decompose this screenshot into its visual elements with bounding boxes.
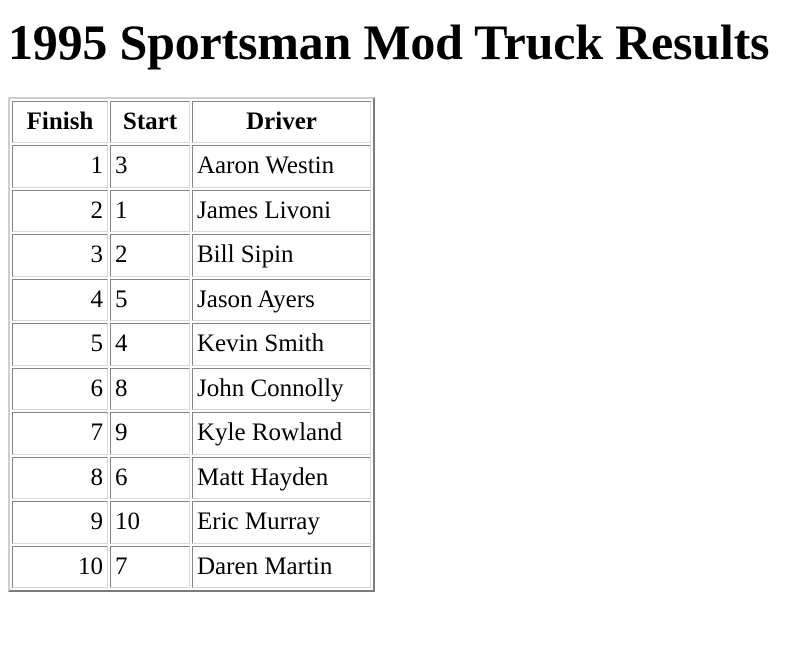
cell-start: 3	[110, 145, 190, 188]
cell-start: 5	[110, 279, 190, 322]
column-header-start: Start	[110, 101, 190, 144]
cell-driver: Jason Ayers	[192, 279, 371, 322]
table-header: Finish Start Driver	[12, 101, 371, 144]
cell-finish: 9	[12, 501, 108, 544]
table-row: 8 6 Matt Hayden	[12, 457, 371, 500]
cell-start: 10	[110, 501, 190, 544]
cell-driver: Matt Hayden	[192, 457, 371, 500]
cell-driver: John Connolly	[192, 368, 371, 411]
cell-driver: Bill Sipin	[192, 234, 371, 277]
cell-finish: 6	[12, 368, 108, 411]
cell-driver: Aaron Westin	[192, 145, 371, 188]
cell-start: 4	[110, 323, 190, 366]
cell-driver: Kyle Rowland	[192, 412, 371, 455]
column-header-driver: Driver	[192, 101, 371, 144]
table-body: 1 3 Aaron Westin 2 1 James Livoni 3 2 Bi…	[12, 145, 371, 588]
cell-finish: 3	[12, 234, 108, 277]
table-row: 2 1 James Livoni	[12, 190, 371, 233]
cell-start: 2	[110, 234, 190, 277]
table-row: 7 9 Kyle Rowland	[12, 412, 371, 455]
cell-start: 6	[110, 457, 190, 500]
table-row: 4 5 Jason Ayers	[12, 279, 371, 322]
cell-start: 8	[110, 368, 190, 411]
table-row: 9 10 Eric Murray	[12, 501, 371, 544]
cell-driver: James Livoni	[192, 190, 371, 233]
table-row: 6 8 John Connolly	[12, 368, 371, 411]
cell-start: 1	[110, 190, 190, 233]
table-header-row: Finish Start Driver	[12, 101, 371, 144]
cell-finish: 2	[12, 190, 108, 233]
column-header-finish: Finish	[12, 101, 108, 144]
table-row: 5 4 Kevin Smith	[12, 323, 371, 366]
cell-finish: 5	[12, 323, 108, 366]
page-root: 1995 Sportsman Mod Truck Results Finish …	[0, 16, 802, 652]
table-row: 10 7 Daren Martin	[12, 546, 371, 589]
cell-start: 7	[110, 546, 190, 589]
cell-driver: Daren Martin	[192, 546, 371, 589]
page-title: 1995 Sportsman Mod Truck Results	[8, 16, 794, 69]
table-row: 3 2 Bill Sipin	[12, 234, 371, 277]
cell-start: 9	[110, 412, 190, 455]
cell-finish: 10	[12, 546, 108, 589]
cell-finish: 1	[12, 145, 108, 188]
table-row: 1 3 Aaron Westin	[12, 145, 371, 188]
cell-finish: 4	[12, 279, 108, 322]
results-table: Finish Start Driver 1 3 Aaron Westin 2 1…	[8, 97, 375, 593]
cell-driver: Eric Murray	[192, 501, 371, 544]
cell-finish: 7	[12, 412, 108, 455]
cell-driver: Kevin Smith	[192, 323, 371, 366]
cell-finish: 8	[12, 457, 108, 500]
